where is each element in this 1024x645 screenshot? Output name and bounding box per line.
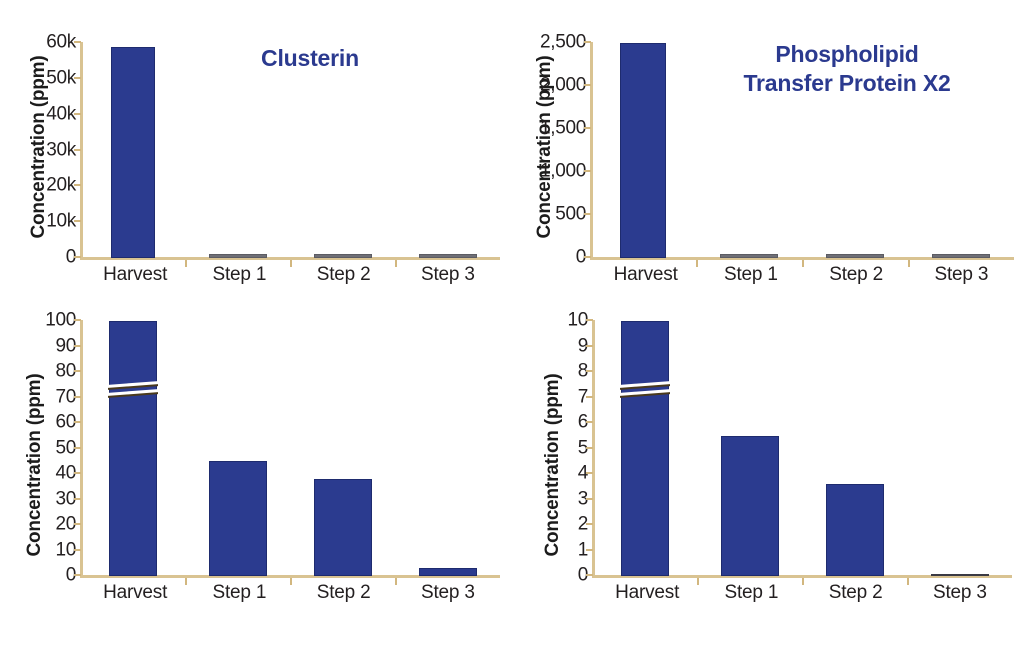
y-tick-mark bbox=[74, 77, 81, 79]
y-tick-mark bbox=[74, 574, 81, 576]
bar-harvest bbox=[621, 321, 669, 576]
y-tick-labels: 012345678910 bbox=[538, 320, 588, 575]
y-tick-mark bbox=[74, 113, 81, 115]
plot-area bbox=[80, 42, 500, 260]
x-tick-label: Step 2 bbox=[804, 264, 909, 286]
bar-harvest bbox=[111, 47, 155, 258]
bar-step-2 bbox=[826, 254, 884, 258]
y-tick-mark bbox=[586, 396, 593, 398]
y-tick-mark bbox=[586, 574, 593, 576]
x-tick-labels: HarvestStep 1Step 2Step 3 bbox=[593, 264, 1014, 286]
x-tick-label: Step 3 bbox=[396, 264, 500, 286]
axis-break-line bbox=[620, 381, 670, 389]
y-tick-mark bbox=[586, 421, 593, 423]
y-tick-mark bbox=[586, 447, 593, 449]
y-tick-labels: 05001,0001,5002,0002,500 bbox=[518, 42, 586, 257]
bar-step-1 bbox=[209, 461, 267, 576]
y-tick-label: 50k bbox=[46, 68, 76, 87]
y-axis-line bbox=[80, 42, 83, 260]
x-tick-label: Harvest bbox=[83, 582, 187, 604]
bar-step-3 bbox=[932, 254, 990, 258]
y-tick-label: 20 bbox=[55, 515, 76, 534]
axis-break-line bbox=[620, 389, 670, 397]
bar-step-2 bbox=[314, 254, 372, 258]
chart-panel-clusterin-zoom: Concentration (ppm) 01020304050607080901… bbox=[0, 300, 512, 645]
y-tick-label: 10k bbox=[46, 212, 76, 231]
y-tick-mark bbox=[74, 472, 81, 474]
bar-step-3 bbox=[419, 254, 477, 258]
x-tick-label: Harvest bbox=[83, 264, 187, 286]
y-tick-label: 60k bbox=[46, 33, 76, 52]
y-tick-mark bbox=[586, 370, 593, 372]
bar-harvest bbox=[109, 321, 157, 576]
bar-harvest bbox=[620, 43, 666, 258]
chart-panel-pltp-full: Concentration (ppm) Phospholipid Transfe… bbox=[512, 0, 1024, 300]
y-tick-mark bbox=[584, 127, 591, 129]
y-tick-mark bbox=[74, 447, 81, 449]
axis-break-marker bbox=[108, 379, 158, 399]
axis-break-marker bbox=[620, 379, 670, 399]
y-tick-label: 40k bbox=[46, 104, 76, 123]
x-tick-label: Step 1 bbox=[187, 264, 291, 286]
y-tick-label: 90 bbox=[55, 336, 76, 355]
bar-step-3 bbox=[931, 574, 989, 576]
y-tick-label: 2,000 bbox=[540, 76, 586, 95]
y-tick-label: 60 bbox=[55, 413, 76, 432]
x-tick-labels: HarvestStep 1Step 2Step 3 bbox=[595, 582, 1012, 604]
y-tick-label: 50 bbox=[55, 438, 76, 457]
y-tick-mark bbox=[74, 498, 81, 500]
x-tick-label: Step 2 bbox=[292, 264, 396, 286]
figure-grid: Concentration (ppm) Clusterin 010k20k30k… bbox=[0, 0, 1024, 645]
x-tick-labels: HarvestStep 1Step 2Step 3 bbox=[83, 582, 500, 604]
plot-area bbox=[80, 320, 500, 578]
bar-step-1 bbox=[720, 254, 778, 258]
y-tick-mark bbox=[74, 256, 81, 258]
y-tick-mark bbox=[584, 41, 591, 43]
y-tick-mark bbox=[74, 421, 81, 423]
x-tick-labels: HarvestStep 1Step 2Step 3 bbox=[83, 264, 500, 286]
chart-panel-clusterin-full: Concentration (ppm) Clusterin 010k20k30k… bbox=[0, 0, 512, 300]
y-tick-mark bbox=[74, 345, 81, 347]
axis-break-line bbox=[108, 389, 158, 397]
x-tick-label: Step 3 bbox=[909, 264, 1014, 286]
x-tick-label: Harvest bbox=[593, 264, 698, 286]
y-tick-label: 500 bbox=[555, 205, 586, 224]
y-tick-mark bbox=[74, 549, 81, 551]
y-tick-label: 20k bbox=[46, 176, 76, 195]
y-tick-mark bbox=[584, 213, 591, 215]
y-tick-mark bbox=[74, 370, 81, 372]
y-tick-mark bbox=[74, 523, 81, 525]
y-tick-mark bbox=[584, 84, 591, 86]
chart-panel-pltp-zoom: Concentration (ppm) 012345678910 Harvest… bbox=[512, 300, 1024, 645]
y-tick-label: 2,500 bbox=[540, 33, 586, 52]
y-tick-label: 1,500 bbox=[540, 119, 586, 138]
y-tick-mark bbox=[74, 220, 81, 222]
y-tick-label: 70 bbox=[55, 387, 76, 406]
y-tick-mark bbox=[586, 472, 593, 474]
y-axis-line bbox=[592, 320, 595, 578]
y-tick-labels: 010k20k30k40k50k60k bbox=[18, 42, 76, 257]
y-tick-mark bbox=[74, 319, 81, 321]
y-tick-label: 100 bbox=[45, 311, 76, 330]
plot-area bbox=[590, 42, 1014, 260]
y-tick-mark bbox=[584, 170, 591, 172]
bar-step-2 bbox=[314, 479, 372, 576]
bar-step-3 bbox=[419, 568, 477, 576]
x-tick-label: Step 3 bbox=[396, 582, 500, 604]
x-tick-label: Step 2 bbox=[804, 582, 908, 604]
x-tick-label: Step 1 bbox=[187, 582, 291, 604]
y-tick-mark bbox=[74, 396, 81, 398]
y-tick-label: 30 bbox=[55, 489, 76, 508]
bar-step-2 bbox=[826, 484, 884, 576]
y-axis-line bbox=[590, 42, 593, 260]
y-axis-line bbox=[80, 320, 83, 578]
y-tick-label: 1,000 bbox=[540, 162, 586, 181]
y-tick-label: 10 bbox=[55, 540, 76, 559]
y-tick-label: 80 bbox=[55, 362, 76, 381]
x-tick-label: Step 3 bbox=[908, 582, 1012, 604]
y-tick-mark bbox=[74, 149, 81, 151]
y-tick-mark bbox=[586, 498, 593, 500]
y-tick-mark bbox=[586, 319, 593, 321]
x-tick-label: Step 1 bbox=[698, 264, 803, 286]
y-tick-label: 10 bbox=[567, 311, 588, 330]
y-tick-mark bbox=[74, 41, 81, 43]
y-tick-mark bbox=[74, 184, 81, 186]
y-tick-labels: 0102030405060708090100 bbox=[18, 320, 76, 575]
axis-break-line bbox=[108, 381, 158, 389]
y-tick-mark bbox=[584, 256, 591, 258]
y-tick-mark bbox=[586, 345, 593, 347]
y-tick-label: 40 bbox=[55, 464, 76, 483]
x-tick-label: Harvest bbox=[595, 582, 699, 604]
y-tick-label: 30k bbox=[46, 140, 76, 159]
x-tick-label: Step 2 bbox=[292, 582, 396, 604]
x-tick-label: Step 1 bbox=[699, 582, 803, 604]
bar-step-1 bbox=[721, 436, 779, 576]
y-tick-mark bbox=[586, 549, 593, 551]
bar-step-1 bbox=[209, 254, 267, 258]
y-tick-mark bbox=[586, 523, 593, 525]
plot-area bbox=[592, 320, 1012, 578]
